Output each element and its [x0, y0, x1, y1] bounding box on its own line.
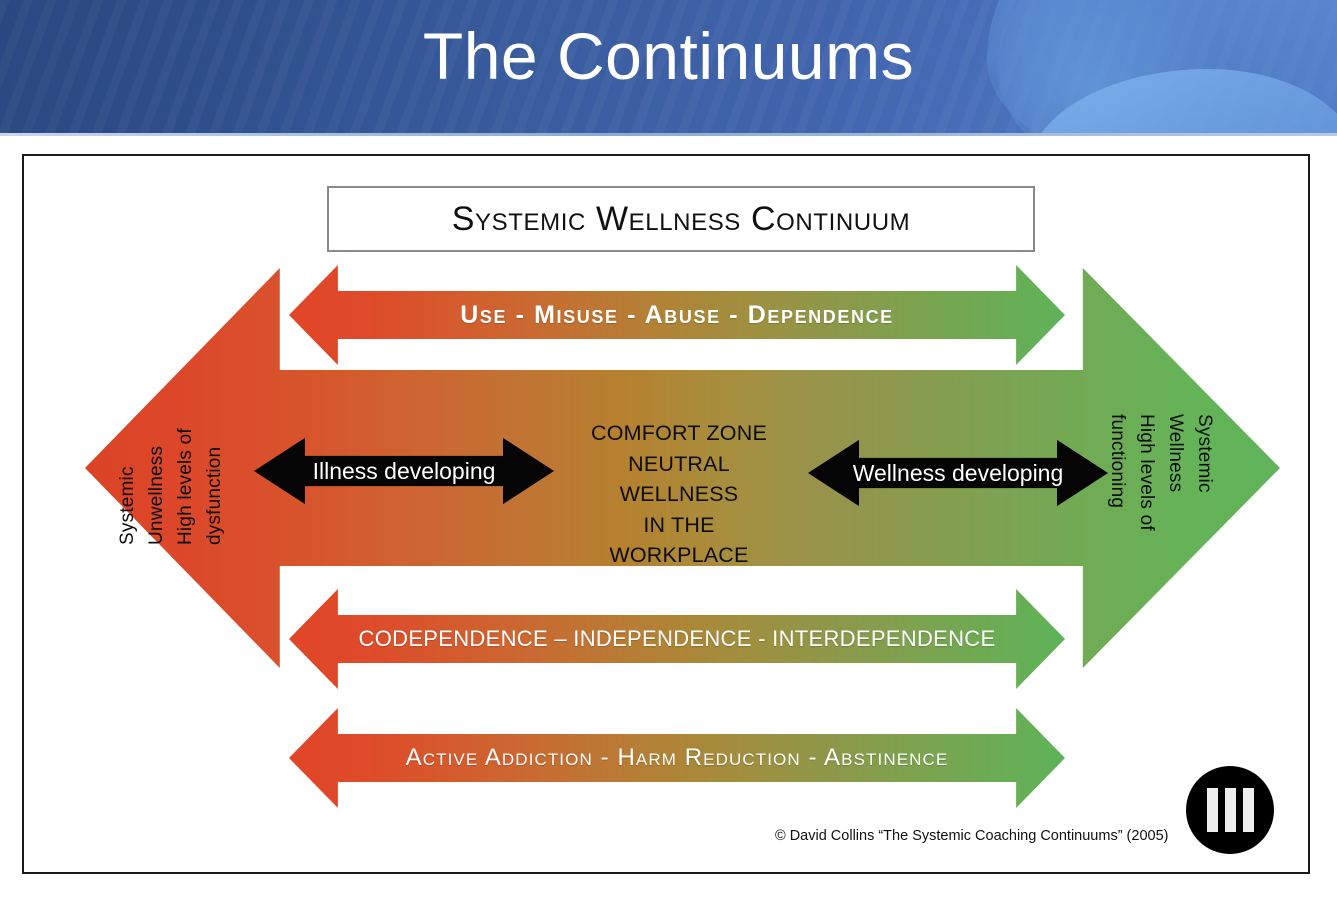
wellness-developing-label: Wellness developing: [853, 460, 1064, 487]
addiction-band-label: Active Addiction - Harm Reduction - Abst…: [406, 744, 949, 772]
slide-header-banner: The Continuums: [0, 0, 1337, 133]
diagram-title-box: Systemic Wellness Continuum: [327, 186, 1035, 252]
logo-bar-1: [1207, 788, 1218, 832]
slide-title: The Continuums: [0, 20, 1337, 93]
right-label-systemic: Systemic: [1193, 414, 1215, 493]
use-band-label: Use - Misuse - Abuse - Dependence: [460, 301, 894, 330]
banner-bottom-edge: [0, 133, 1337, 136]
illness-developing-label: Illness developing: [313, 458, 496, 485]
right-label-functioning: functioning: [1106, 414, 1128, 508]
right-label-wellness: Wellness: [1164, 414, 1186, 492]
diagram-title-text: Systemic Wellness Continuum: [452, 200, 910, 239]
left-label-systemic: Systemic: [117, 466, 139, 545]
logo-bar-2: [1225, 788, 1236, 832]
codependence-band-label: CODEPENDENCE – INDEPENDENCE - INTERDEPEN…: [359, 626, 996, 652]
copyright-notice: © David Collins “The Systemic Coaching C…: [775, 828, 1168, 844]
comfort-zone-line-2: NEUTRAL WELLNESS: [576, 449, 782, 510]
left-label-high-levels-of: High levels of: [175, 428, 197, 545]
right-label-high-levels-of: High levels of: [1135, 414, 1157, 531]
left-label-unwellness: Unwellness: [146, 446, 168, 545]
three-bars-logo-icon: [1186, 766, 1274, 854]
logo-bar-3: [1243, 788, 1254, 832]
comfort-zone-line-3: IN THE WORKPLACE: [576, 510, 782, 571]
left-label-dysfunction: dysfunction: [204, 447, 226, 545]
comfort-zone-line-1: COMFORT ZONE: [576, 418, 782, 449]
comfort-zone-text-block: COMFORT ZONE NEUTRAL WELLNESS IN THE WOR…: [576, 418, 782, 571]
